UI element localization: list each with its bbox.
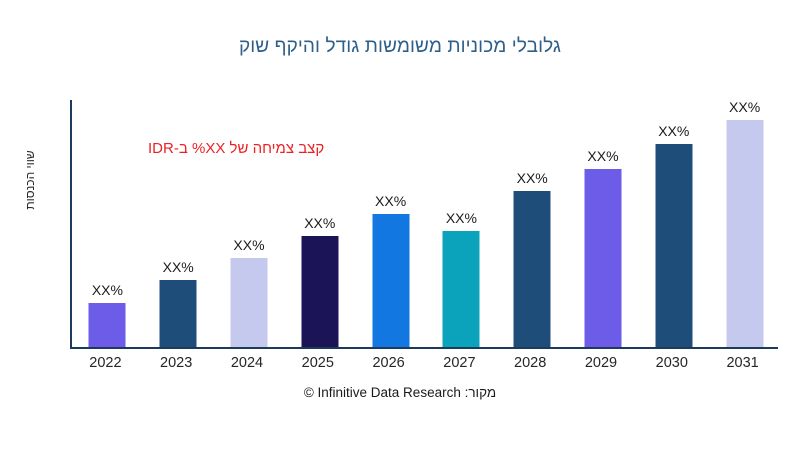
- bar-2029[interactable]: [584, 169, 621, 347]
- bar-slot: XX%: [72, 100, 143, 347]
- bar-2022[interactable]: [89, 303, 126, 347]
- y-axis-label: שווי הכנסות: [23, 150, 37, 209]
- y-axis-label-container: שווי הכנסות: [18, 120, 42, 240]
- bar-2028[interactable]: [514, 191, 551, 347]
- bar-value-label-2027: XX%: [446, 210, 477, 226]
- bar-value-label-2028: XX%: [517, 170, 548, 186]
- x-tick-2025: 2025: [302, 355, 334, 371]
- x-tick-2027: 2027: [443, 355, 475, 371]
- bar-slot: XX%: [497, 100, 568, 347]
- plot-area: קצב צמיחה של XX% ב-IDR XX%XX%XX%XX%XX%XX…: [70, 100, 778, 349]
- bar-value-label-2024: XX%: [233, 237, 264, 253]
- bar-value-label-2031: XX%: [729, 99, 760, 115]
- bar-series: XX%XX%XX%XX%XX%XX%XX%XX%XX%XX%: [72, 100, 778, 347]
- x-tick-2022: 2022: [89, 355, 121, 371]
- bar-slot: XX%: [355, 100, 426, 347]
- x-tick-2029: 2029: [585, 355, 617, 371]
- bar-slot: XX%: [214, 100, 285, 347]
- x-axis-tick-labels: 2022202320242025202620272028202920302031: [70, 355, 778, 377]
- x-tick-2023: 2023: [160, 355, 192, 371]
- chart-title: גלובלי מכוניות משומשות גודל והיקף שוק: [0, 36, 800, 58]
- bar-slot: XX%: [709, 100, 780, 347]
- bar-slot: XX%: [638, 100, 709, 347]
- bar-2026[interactable]: [372, 214, 409, 347]
- source-caption: מקור: Infinitive Data Research ©: [0, 385, 800, 400]
- bar-value-label-2030: XX%: [658, 123, 689, 139]
- x-axis-line: [70, 347, 778, 349]
- bar-value-label-2025: XX%: [304, 215, 335, 231]
- bar-value-label-2029: XX%: [587, 148, 618, 164]
- bar-slot: XX%: [426, 100, 497, 347]
- bar-value-label-2022: XX%: [92, 282, 123, 298]
- x-tick-2024: 2024: [231, 355, 263, 371]
- bar-2030[interactable]: [655, 144, 692, 347]
- bar-slot: XX%: [284, 100, 355, 347]
- x-tick-2031: 2031: [726, 355, 758, 371]
- bar-2031[interactable]: [726, 120, 763, 347]
- bar-value-label-2026: XX%: [375, 193, 406, 209]
- chart-container: גלובלי מכוניות משומשות גודל והיקף שוק שו…: [0, 0, 800, 450]
- bar-slot: XX%: [568, 100, 639, 347]
- x-tick-2026: 2026: [372, 355, 404, 371]
- bar-2023[interactable]: [160, 280, 197, 347]
- bar-2024[interactable]: [230, 258, 267, 347]
- bar-slot: XX%: [143, 100, 214, 347]
- bar-2027[interactable]: [443, 231, 480, 347]
- bar-value-label-2023: XX%: [163, 259, 194, 275]
- x-tick-2028: 2028: [514, 355, 546, 371]
- x-tick-2030: 2030: [656, 355, 688, 371]
- bar-2025[interactable]: [301, 236, 338, 347]
